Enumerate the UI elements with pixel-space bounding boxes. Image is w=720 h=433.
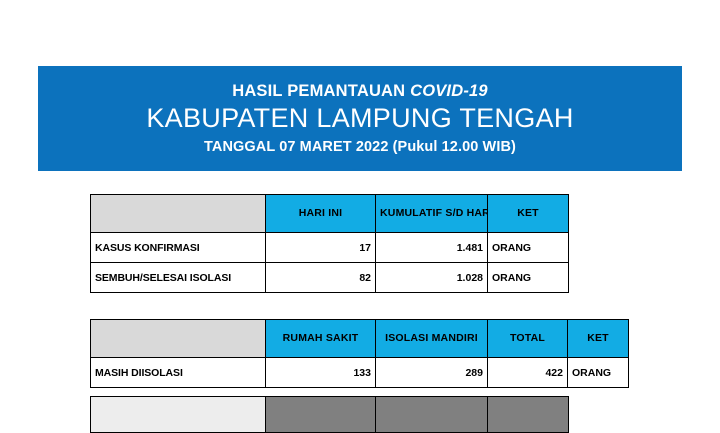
cell-kasus-konfirmasi-kumulatif: 1.481 — [376, 233, 488, 263]
table-isolasi-header-isolasi-mandiri: ISOLASI MANDIRI — [376, 320, 488, 358]
table-row: MASIH DIISOLASI 133 289 422 ORANG — [91, 358, 629, 388]
table-isolasi-header-total: TOTAL — [488, 320, 568, 358]
banner-title-covid19: COVID-19 — [410, 82, 488, 100]
table-row-header: RUMAH SAKIT ISOLASI MANDIRI TOTAL KET — [91, 320, 629, 358]
table-konfirmasi-header-hari-ini: HARI INI — [266, 195, 376, 233]
row-label-kasus-konfirmasi: KASUS KONFIRMASI — [91, 233, 266, 263]
cell-sembuh-kumulatif: 1.028 — [376, 263, 488, 293]
cell-kasus-konfirmasi-hari-ini: 17 — [266, 233, 376, 263]
table-konfirmasi-header-ket: KET — [488, 195, 569, 233]
table-isolasi-header-blank — [91, 320, 266, 358]
table-partial-header-blank — [91, 397, 266, 433]
report-header-banner: HASIL PEMANTAUAN COVID-19 KABUPATEN LAMP… — [38, 66, 682, 171]
table-konfirmasi: HARI INI KUMULATIF S/D HARI INI KET KASU… — [90, 194, 569, 293]
report-page: HASIL PEMANTAUAN COVID-19 KABUPATEN LAMP… — [0, 0, 720, 405]
banner-title-prefix: HASIL PEMANTAUAN — [232, 82, 410, 100]
cell-masih-diisolasi-isolasi-mandiri: 289 — [376, 358, 488, 388]
table-row: KASUS KONFIRMASI 17 1.481 ORANG — [91, 233, 569, 263]
table-konfirmasi-header-kumulatif: KUMULATIF S/D HARI INI — [376, 195, 488, 233]
table-partial-header-col-2 — [266, 397, 376, 433]
banner-title-line-2: KABUPATEN LAMPUNG TENGAH — [146, 103, 573, 135]
cell-masih-diisolasi-rumah-sakit: 133 — [266, 358, 376, 388]
cell-sembuh-hari-ini: 82 — [266, 263, 376, 293]
cell-masih-diisolasi-ket: ORANG — [568, 358, 629, 388]
cell-masih-diisolasi-total: 422 — [488, 358, 568, 388]
row-label-masih-diisolasi: MASIH DIISOLASI — [91, 358, 266, 388]
cell-sembuh-ket: ORANG — [488, 263, 569, 293]
table-partial-header-col-3 — [376, 397, 488, 433]
table-row: SEMBUH/SELESAI ISOLASI 82 1.028 ORANG — [91, 263, 569, 293]
table-partial-below-fold — [90, 396, 569, 433]
banner-title-line-3: TANGGAL 07 MARET 2022 (Pukul 12.00 WIB) — [204, 139, 516, 156]
row-label-sembuh-selesai-isolasi: SEMBUH/SELESAI ISOLASI — [91, 263, 266, 293]
table-konfirmasi-header-blank — [91, 195, 266, 233]
table-row-header — [91, 397, 569, 433]
table-isolasi: RUMAH SAKIT ISOLASI MANDIRI TOTAL KET MA… — [90, 319, 629, 388]
table-isolasi-header-rumah-sakit: RUMAH SAKIT — [266, 320, 376, 358]
table-isolasi-header-ket: KET — [568, 320, 629, 358]
cell-kasus-konfirmasi-ket: ORANG — [488, 233, 569, 263]
table-row-header: HARI INI KUMULATIF S/D HARI INI KET — [91, 195, 569, 233]
table-partial-header-col-4 — [488, 397, 569, 433]
banner-title-line-1: HASIL PEMANTAUAN COVID-19 — [232, 82, 488, 101]
